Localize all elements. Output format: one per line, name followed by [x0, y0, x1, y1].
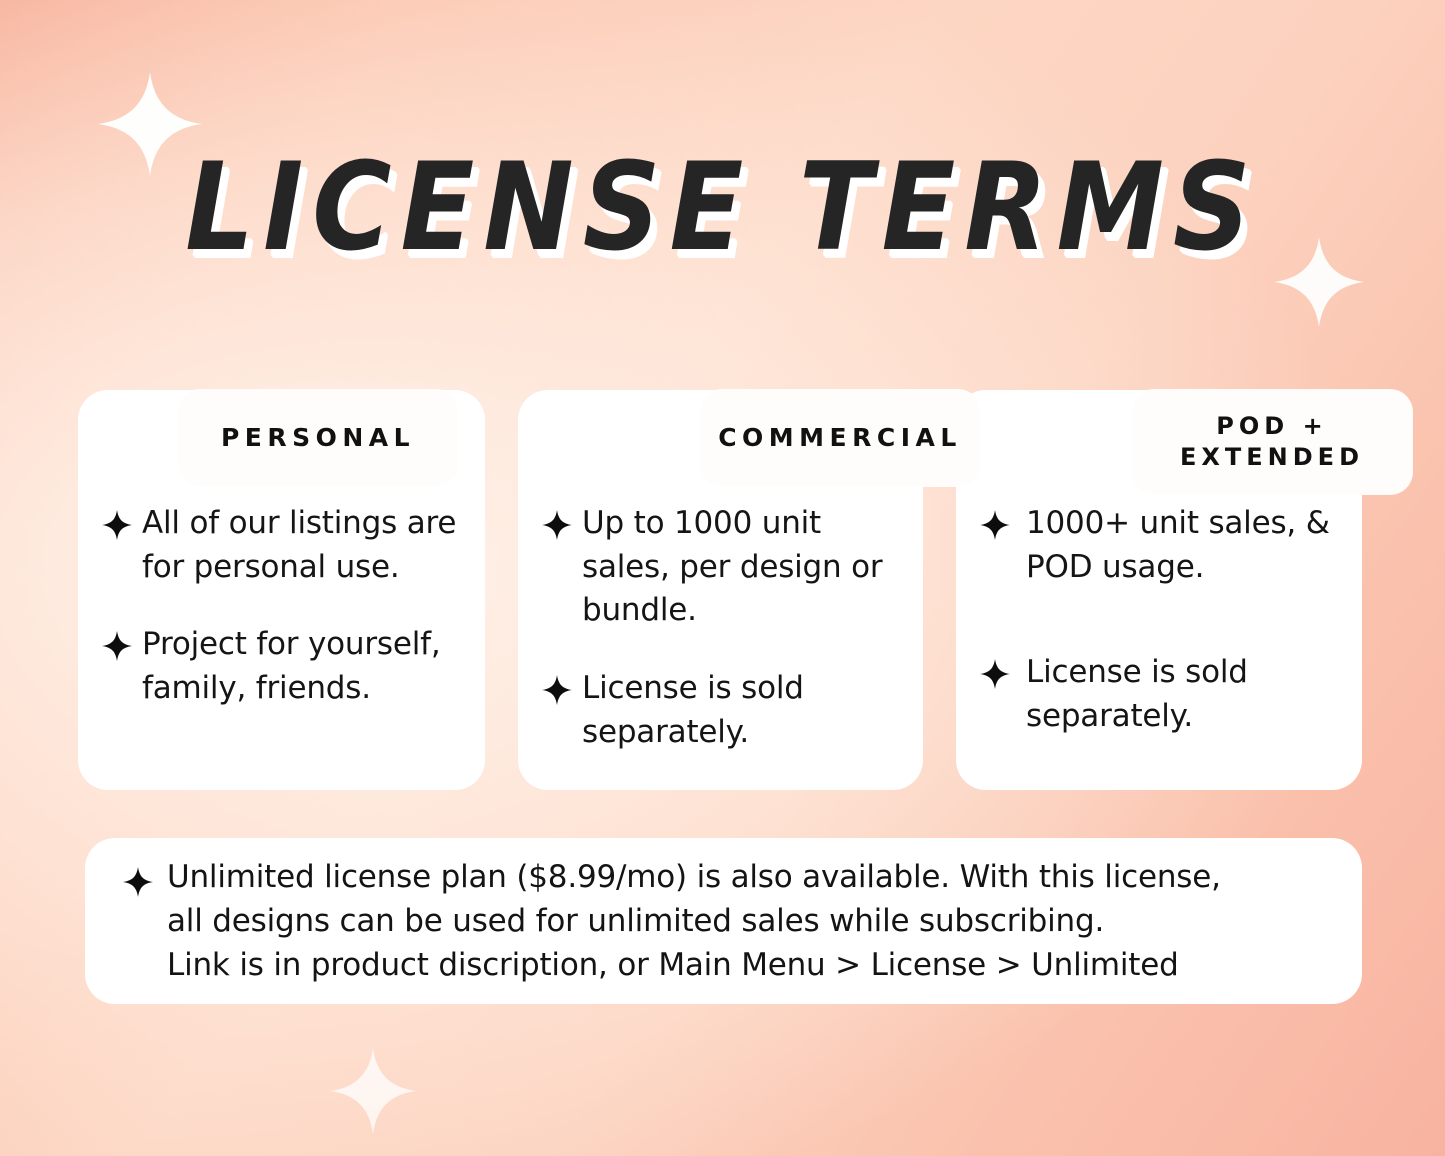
card-header-pod-extended: POD + EXTENDED — [1132, 390, 1412, 494]
card-header-pod-extended-label: POD + EXTENDED — [1180, 411, 1364, 473]
list-item: 1000+ unit sales, & POD usage. — [980, 502, 1340, 589]
list-item: All of our listings are for personal use… — [102, 502, 463, 589]
list-item-text: License is sold separately. — [582, 667, 901, 754]
sparkle-icon — [123, 865, 153, 899]
list-item: Up to 1000 unit sales, per design or bun… — [542, 502, 901, 633]
unlimited-plan-note-text: Unlimited license plan ($8.99/mo) is als… — [167, 855, 1221, 987]
sparkle-icon — [102, 629, 132, 663]
card-header-commercial-label: COMMERCIAL — [718, 422, 962, 455]
list-item-text: 1000+ unit sales, & POD usage. — [1026, 502, 1340, 589]
note-line-2: all designs can be used for unlimited sa… — [167, 899, 1221, 943]
license-terms-poster: LICENSE TERMS PERSONAL All of our listin… — [0, 0, 1445, 1156]
sparkle-icon — [102, 508, 132, 542]
license-card-commercial[interactable]: COMMERCIAL Up to 1000 unit sales, per de… — [518, 390, 923, 790]
card-body-commercial: Up to 1000 unit sales, per design or bun… — [518, 502, 923, 755]
sparkle-icon — [542, 508, 572, 542]
note-line-1: Unlimited license plan ($8.99/mo) is als… — [167, 855, 1221, 899]
card-body-personal: All of our listings are for personal use… — [78, 502, 485, 711]
card-body-pod-extended: 1000+ unit sales, & POD usage. License i… — [956, 502, 1362, 739]
sparkle-icon — [542, 673, 572, 707]
sparkle-icon — [980, 508, 1010, 542]
unlimited-plan-note[interactable]: Unlimited license plan ($8.99/mo) is als… — [85, 838, 1362, 1004]
list-item-text: Up to 1000 unit sales, per design or bun… — [582, 502, 901, 633]
list-item-text: License is sold separately. — [1026, 651, 1340, 738]
list-item: License is sold separately. — [542, 667, 901, 754]
note-line-3: Link is in product discription, or Main … — [167, 943, 1221, 987]
license-card-personal[interactable]: PERSONAL All of our listings are for per… — [78, 390, 485, 790]
sparkle-icon — [330, 1048, 416, 1134]
list-item-text: Project for yourself, family, friends. — [142, 623, 463, 710]
card-header-commercial: COMMERCIAL — [700, 390, 980, 486]
card-header-personal-label: PERSONAL — [221, 422, 415, 455]
license-card-pod-extended[interactable]: POD + EXTENDED 1000+ unit sales, & POD u… — [956, 390, 1362, 790]
list-item: Project for yourself, family, friends. — [102, 623, 463, 710]
list-item-text: All of our listings are for personal use… — [142, 502, 463, 589]
card-header-personal: PERSONAL — [178, 390, 458, 486]
card-header-pod-line1: POD + — [1216, 412, 1327, 440]
card-header-pod-line2: EXTENDED — [1180, 443, 1364, 471]
page-title-wrap: LICENSE TERMS — [0, 148, 1445, 256]
page-title: LICENSE TERMS — [185, 148, 1259, 269]
license-tier-cards: PERSONAL All of our listings are for per… — [78, 348, 1362, 790]
sparkle-icon — [980, 657, 1010, 691]
list-item: License is sold separately. — [980, 651, 1340, 738]
